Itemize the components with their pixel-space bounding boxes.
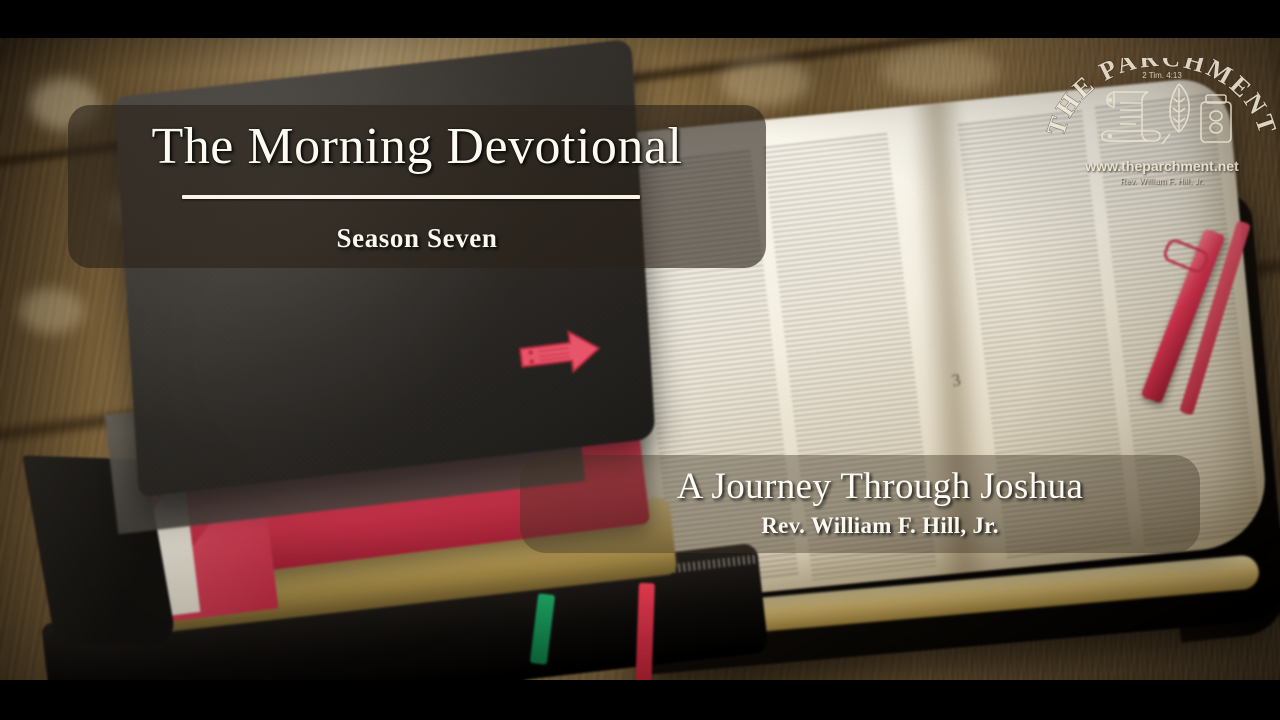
speaker-name: Rev. William F. Hill, Jr. — [600, 513, 1160, 539]
title-divider — [182, 195, 640, 199]
series-title: A Journey Through Joshua — [600, 465, 1160, 508]
video-frame: 3 — [0, 0, 1280, 720]
page-title: The Morning Devotional — [68, 119, 766, 175]
title-banner: The Morning Devotional Season Seven — [68, 105, 766, 268]
series-banner: A Journey Through Joshua Rev. William F.… — [520, 455, 1200, 553]
letterbox-bar-bottom — [0, 680, 1280, 720]
letterbox-bar-top — [0, 0, 1280, 38]
red-ribbon-bookmark — [635, 583, 655, 680]
season-label: Season Seven — [68, 223, 766, 254]
